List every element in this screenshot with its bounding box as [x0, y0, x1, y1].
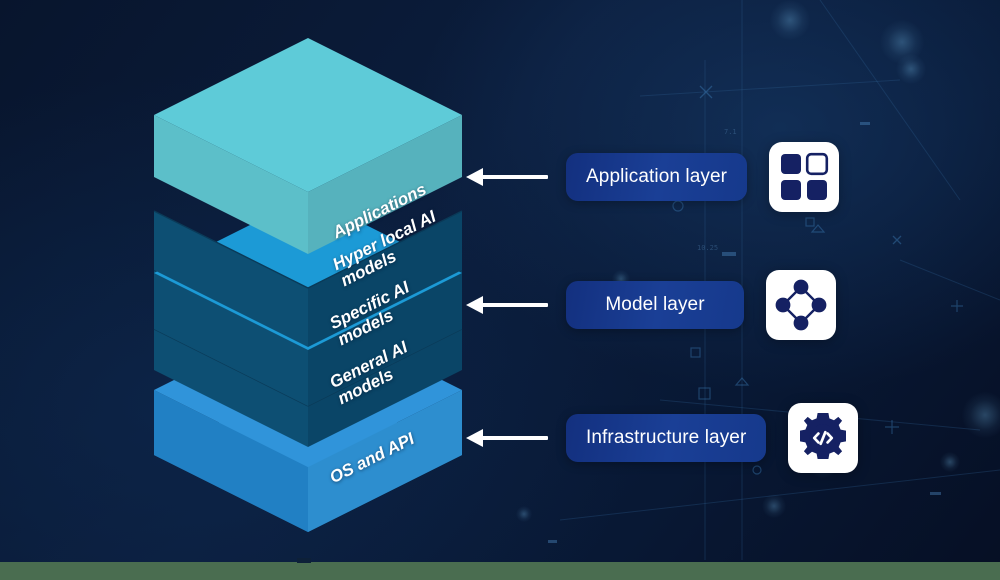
gear-code-icon[interactable]: [788, 403, 858, 473]
arrow-left-icon: [466, 296, 548, 314]
bottom-color-strip: [0, 562, 1000, 580]
stack-layer-applications[interactable]: [154, 38, 462, 254]
bottom-strip-notch: [297, 558, 311, 563]
badge-application-layer[interactable]: Application layer: [566, 153, 747, 201]
callout-row-application-layer: Application layer: [466, 142, 839, 212]
badge-model-layer[interactable]: Model layer: [566, 281, 744, 329]
arrow-left-icon: [466, 429, 548, 447]
network-nodes-icon[interactable]: [766, 270, 836, 340]
callout-row-model-layer: Model layer: [466, 270, 836, 340]
callout-row-infrastructure-layer: Infrastructure layer: [466, 403, 858, 473]
arrow-left-icon: [466, 168, 548, 186]
diagram-canvas: 10.25 7.1 3.2: [0, 0, 1000, 580]
badge-infrastructure-layer[interactable]: Infrastructure layer: [566, 414, 766, 462]
grid-four-squares-icon[interactable]: [769, 142, 839, 212]
